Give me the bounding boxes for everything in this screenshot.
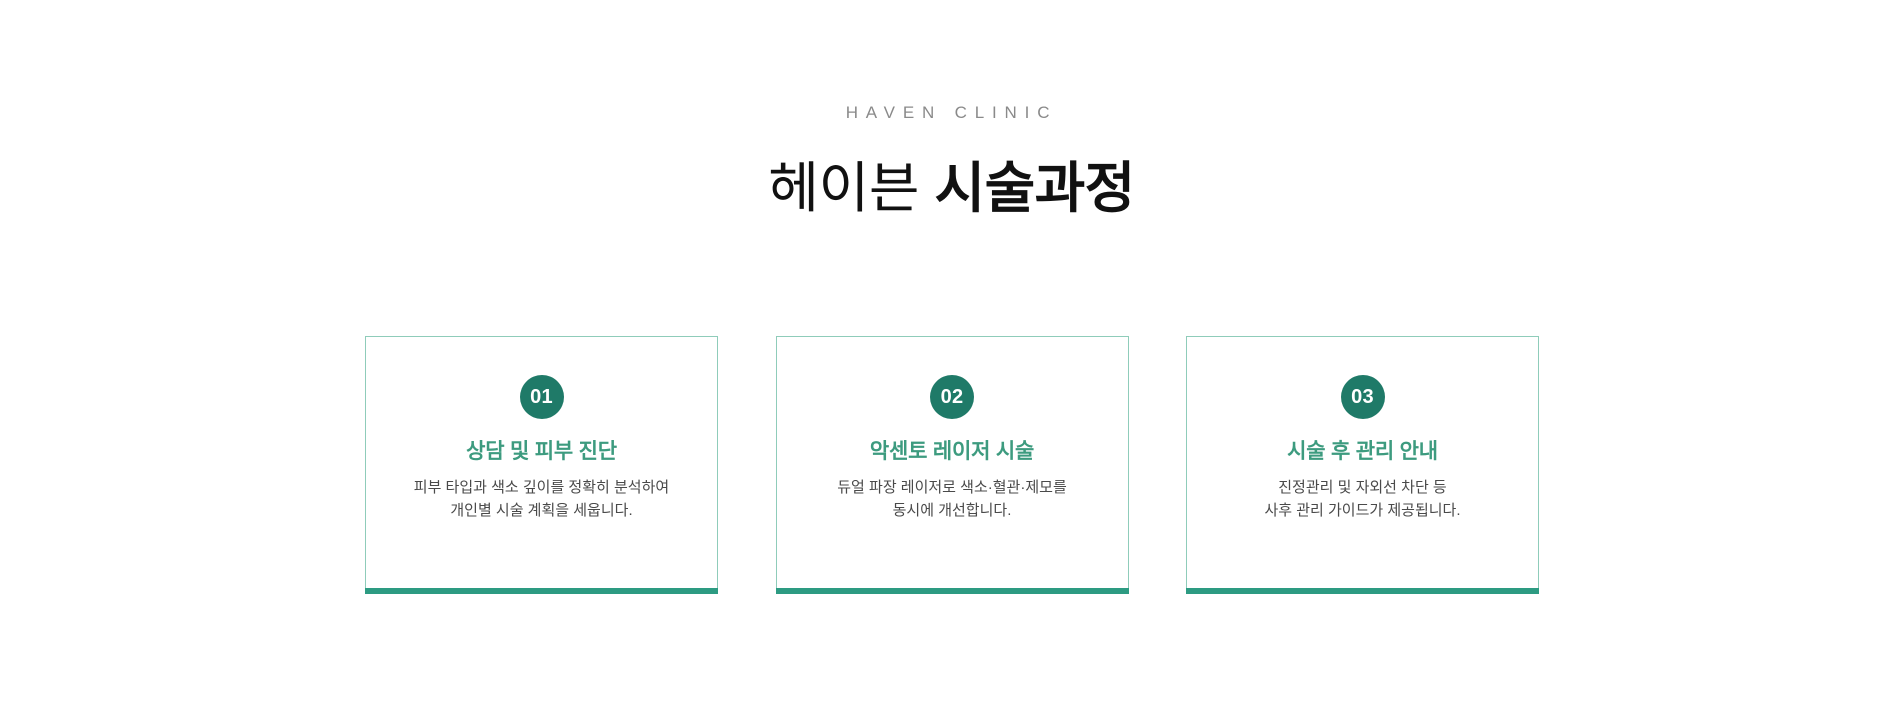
step-description: 진정관리 및 자외선 차단 등 사후 관리 가이드가 제공됩니다. xyxy=(1264,464,1460,523)
card-accent-bar xyxy=(1186,588,1539,594)
section-header: HAVEN CLINIC 헤이븐 시술과정 xyxy=(0,104,1903,220)
card-accent-bar xyxy=(365,588,718,594)
process-step-card-3[interactable]: 03 시술 후 관리 안내 진정관리 및 자외선 차단 등 사후 관리 가이드가… xyxy=(1186,336,1539,588)
step-number-badge: 01 xyxy=(520,375,564,419)
page-title-bold: 시술과정 xyxy=(935,157,1135,219)
page-title: 헤이븐 시술과정 xyxy=(0,121,1903,220)
process-step-card-1[interactable]: 01 상담 및 피부 진단 피부 타입과 색소 깊이를 정확히 분석하여 개인별… xyxy=(365,336,718,588)
step-title: 악센토 레이저 시술 xyxy=(870,419,1034,464)
step-title: 시술 후 관리 안내 xyxy=(1287,419,1438,464)
step-number-badge: 02 xyxy=(930,375,974,419)
process-step-card-2[interactable]: 02 악센토 레이저 시술 듀얼 파장 레이저로 색소·혈관·제모를 동시에 개… xyxy=(776,336,1129,588)
step-description: 피부 타입과 색소 깊이를 정확히 분석하여 개인별 시술 계획을 세웁니다. xyxy=(414,464,669,523)
section-eyebrow: HAVEN CLINIC xyxy=(0,104,1903,121)
process-section: HAVEN CLINIC 헤이븐 시술과정 01 상담 및 피부 진단 피부 타… xyxy=(0,0,1903,726)
step-description: 듀얼 파장 레이저로 색소·혈관·제모를 동시에 개선합니다. xyxy=(837,464,1067,523)
card-accent-bar xyxy=(776,588,1129,594)
step-number-badge: 03 xyxy=(1341,375,1385,419)
process-step-cards: 01 상담 및 피부 진단 피부 타입과 색소 깊이를 정확히 분석하여 개인별… xyxy=(365,336,1539,588)
page-title-light: 헤이븐 xyxy=(768,157,919,219)
step-title: 상담 및 피부 진단 xyxy=(466,419,617,464)
